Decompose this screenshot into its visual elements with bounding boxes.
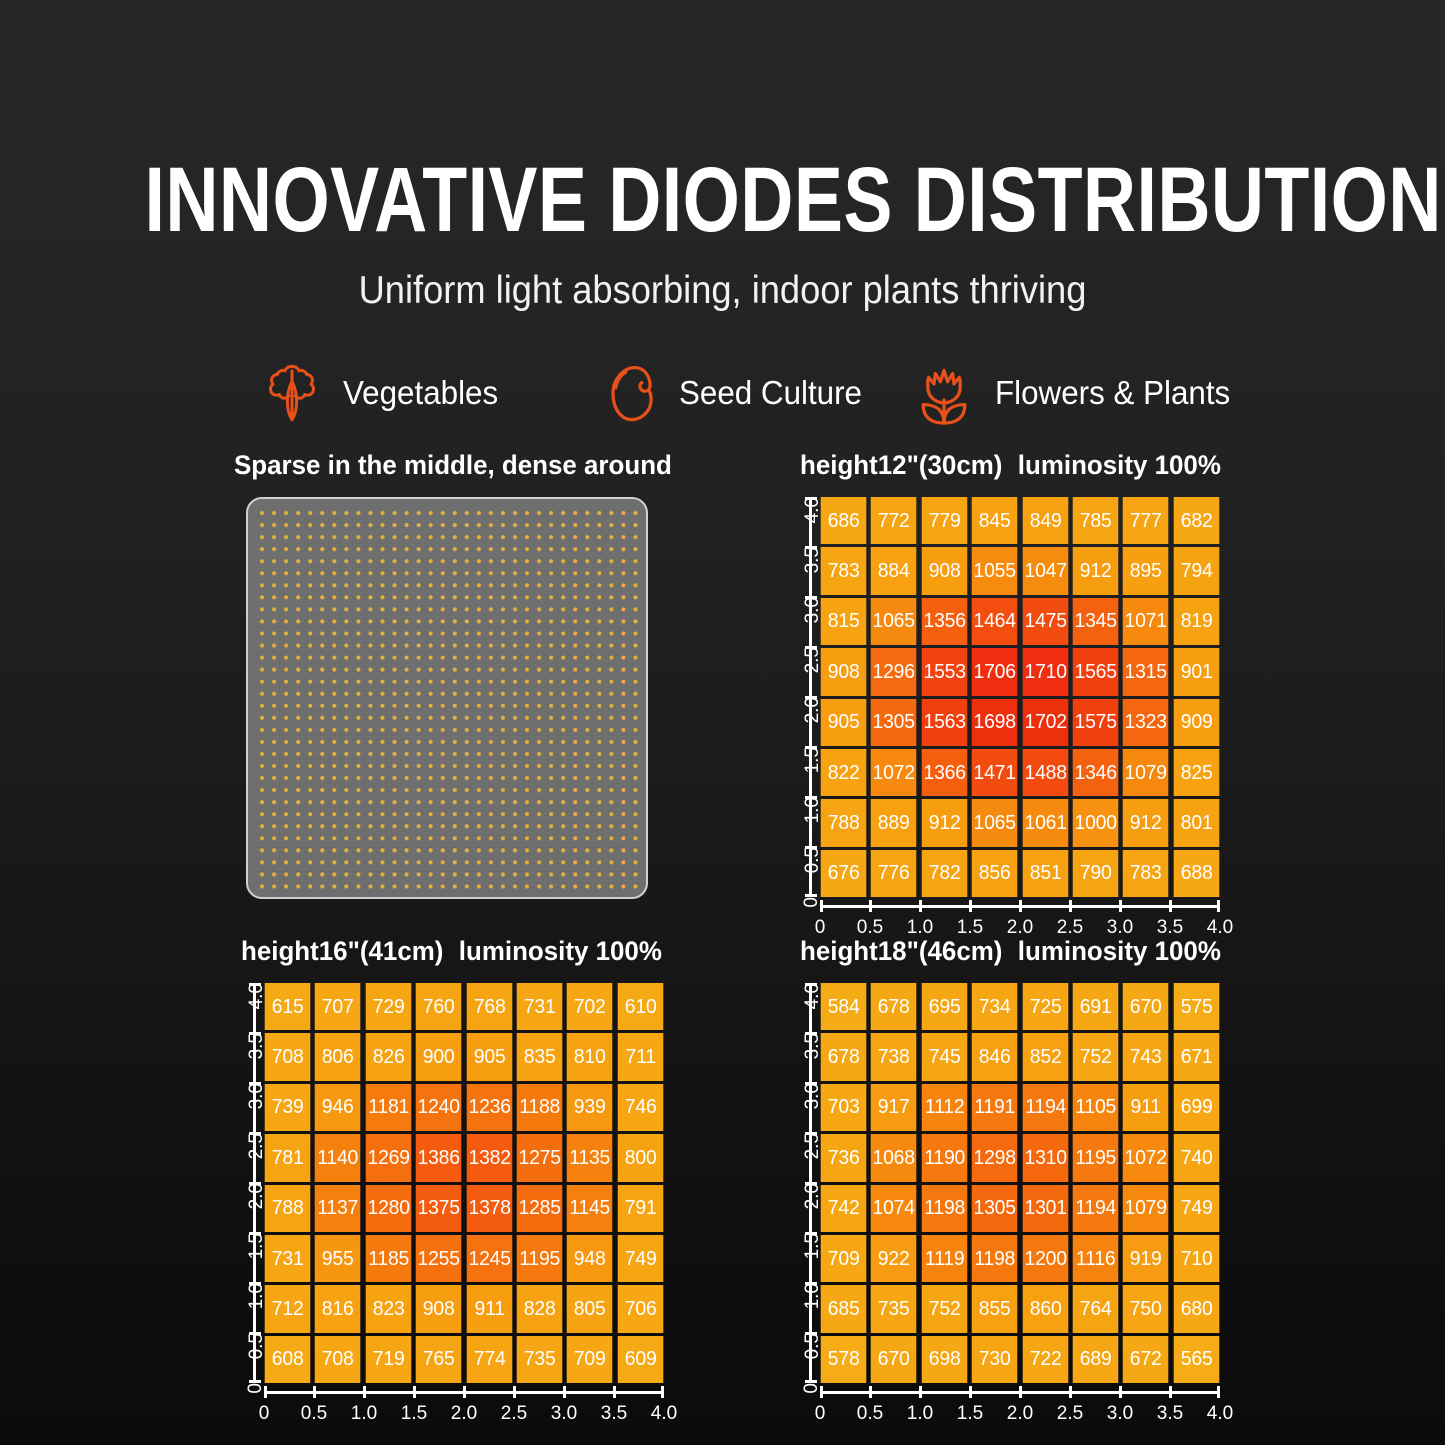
heatmap-cell: 1112 — [921, 1084, 967, 1131]
x-axis-tick — [613, 1386, 616, 1398]
heatmap-cell: 706 — [617, 1285, 663, 1332]
heatmap-cell: 1047 — [1022, 547, 1068, 594]
heatmap-cell: 615 — [265, 983, 311, 1030]
heatmap-cell: 1345 — [1073, 598, 1119, 645]
heatmap-cell: 856 — [972, 850, 1018, 897]
y-axis-tick-label: 0 — [236, 1383, 257, 1394]
x-axis-tick — [513, 1386, 516, 1398]
heatmap-cell: 1236 — [466, 1084, 512, 1131]
x-axis-tick — [363, 1386, 366, 1398]
x-axis: 00.51.01.52.02.53.03.54.0 — [820, 897, 1220, 939]
heatmap-cell: 1065 — [871, 598, 917, 645]
heatmap-cell: 1105 — [1073, 1084, 1119, 1131]
heatmap-cell: 688 — [1173, 850, 1219, 897]
x-axis-tick-label: 1.0 — [907, 917, 933, 938]
x-axis-tick-label: 1.5 — [401, 1403, 427, 1424]
y-axis-tick-label: 1.5 — [792, 1233, 813, 1259]
heatmap-cell: 729 — [365, 983, 411, 1030]
heatmap-cell: 1245 — [466, 1235, 512, 1282]
y-axis-tick-label: 2.5 — [792, 647, 813, 673]
feature-item-seed-culture: Seed Culture — [591, 350, 907, 436]
chart-title-h18-luminosity: luminosity 100% — [1018, 936, 1221, 966]
heatmap-cell: 819 — [1173, 598, 1219, 645]
heatmap-cell: 1191 — [972, 1084, 1018, 1131]
x-axis-tick-label: 1.0 — [351, 1403, 377, 1424]
heatmap-cell: 889 — [871, 799, 917, 846]
heatmap-cell: 702 — [567, 983, 613, 1030]
heatmap-cell: 1071 — [1123, 598, 1169, 645]
heatmap-cell: 776 — [871, 850, 917, 897]
y-axis-tick-label: 2.0 — [236, 1183, 257, 1209]
y-axis-tick-label: 3.0 — [792, 1083, 813, 1109]
heatmap-cell: 708 — [265, 1033, 311, 1080]
heatmap-cell: 955 — [315, 1235, 361, 1282]
heatmap-cell: 815 — [821, 598, 867, 645]
heatmap-cell: 740 — [1173, 1134, 1219, 1181]
heatmap-cell: 794 — [1173, 547, 1219, 594]
heatmap-cell: 908 — [921, 547, 967, 594]
heatmap-cell: 777 — [1123, 497, 1169, 544]
x-axis-tick — [1119, 1386, 1122, 1398]
heatmap-cell: 1323 — [1123, 699, 1169, 746]
y-axis-tick-label: 2.0 — [792, 1183, 813, 1209]
chart-title-h16: height16"(41cm)luminosity 100% — [241, 936, 662, 966]
heatmap-cell: 578 — [821, 1336, 867, 1383]
heatmap-cell: 810 — [567, 1033, 613, 1080]
heatmap-cell: 801 — [1173, 799, 1219, 846]
x-axis-tick — [1217, 900, 1220, 912]
heatmap-cell: 1488 — [1022, 749, 1068, 796]
heatmap-cell: 738 — [871, 1033, 917, 1080]
heatmap-cell: 849 — [1022, 497, 1068, 544]
heatmap-cell: 1068 — [871, 1134, 917, 1181]
page-title: INNOVATIVE DIODES DISTRIBUTION — [145, 152, 1301, 248]
y-axis-tick-label: 0.5 — [236, 1333, 257, 1359]
heatmap-cell: 768 — [466, 983, 512, 1030]
heatmap-cell: 1375 — [416, 1185, 462, 1232]
heatmap-cell: 1315 — [1123, 648, 1169, 695]
heatmap-cell: 695 — [921, 983, 967, 1030]
heatmap-cell: 905 — [466, 1033, 512, 1080]
heatmap-cell: 709 — [567, 1336, 613, 1383]
y-axis-tick-label: 2.5 — [792, 1133, 813, 1159]
heatmap-cell: 1198 — [972, 1235, 1018, 1282]
heatmap-cell: 1305 — [972, 1185, 1018, 1232]
heatmap-cell: 1305 — [871, 699, 917, 746]
y-axis: 4.03.53.02.52.01.51.00.50 — [778, 497, 820, 897]
heatmap-cell: 1710 — [1022, 648, 1068, 695]
heatmap-cell: 749 — [1173, 1185, 1219, 1232]
x-axis-tick — [1119, 900, 1122, 912]
x-axis-tick — [1019, 900, 1022, 912]
heatmap-cell: 782 — [921, 850, 967, 897]
heatmap-cell: 1194 — [1022, 1084, 1068, 1131]
x-axis-tick — [969, 900, 972, 912]
y-axis-tick-label: 1.0 — [792, 1283, 813, 1309]
heatmap-cell: 1061 — [1022, 799, 1068, 846]
heatmap-cell: 680 — [1173, 1285, 1219, 1332]
flower-icon — [907, 356, 981, 430]
heatmap-cell: 707 — [315, 983, 361, 1030]
x-axis-tick-label: 0 — [815, 917, 826, 938]
x-axis-tick-label: 4.0 — [651, 1403, 677, 1424]
heatmap-cell: 750 — [1123, 1285, 1169, 1332]
heatmap-cell: 709 — [821, 1235, 867, 1282]
heatmap-cell: 912 — [921, 799, 967, 846]
x-axis: 00.51.01.52.02.53.03.54.0 — [820, 1383, 1220, 1425]
heatmap-cell: 781 — [265, 1134, 311, 1181]
chart-title-h18-height: height18"(46cm) — [800, 936, 1002, 966]
heatmap-cell: 670 — [1123, 983, 1169, 1030]
heatmap-cell: 912 — [1123, 799, 1169, 846]
heatmap-cell: 608 — [265, 1336, 311, 1383]
x-axis-tick-label: 2.0 — [451, 1403, 477, 1424]
heatmap-cell: 1190 — [921, 1134, 967, 1181]
feature-label-flowers-plants: Flowers & Plants — [995, 375, 1230, 411]
heatmap-cell: 1366 — [921, 749, 967, 796]
x-axis-tick — [463, 1386, 466, 1398]
led-diode-panel — [246, 497, 648, 899]
heatmap-cell: 783 — [821, 547, 867, 594]
x-axis-tick — [1169, 1386, 1172, 1398]
heatmap-cell: 752 — [1073, 1033, 1119, 1080]
heatmap-cell: 946 — [315, 1084, 361, 1131]
x-axis-tick — [1019, 1386, 1022, 1398]
x-axis: 00.51.01.52.02.53.03.54.0 — [264, 1383, 664, 1425]
heatmap-cell: 725 — [1022, 983, 1068, 1030]
x-axis-tick-label: 3.5 — [1157, 1403, 1183, 1424]
heatmap-cell: 1074 — [871, 1185, 917, 1232]
heatmap-cell: 828 — [517, 1285, 563, 1332]
heatmap-cell: 731 — [517, 983, 563, 1030]
y-axis-tick-label: 4.0 — [236, 983, 257, 1009]
heatmap-cell: 884 — [871, 547, 917, 594]
heatmap-cell: 905 — [821, 699, 867, 746]
heatmap-cell: 1137 — [315, 1185, 361, 1232]
heatmap-cell: 722 — [1022, 1336, 1068, 1383]
feature-item-flowers-plants: Flowers & Plants — [907, 350, 1235, 436]
heatmap-cell: 1378 — [466, 1185, 512, 1232]
heatmap-cell: 698 — [921, 1336, 967, 1383]
heatmap-cell: 1356 — [921, 598, 967, 645]
heatmap-cell: 823 — [365, 1285, 411, 1332]
x-axis-tick-label: 0.5 — [857, 1403, 883, 1424]
heatmap-cell: 760 — [416, 983, 462, 1030]
heatmap-cell: 939 — [567, 1084, 613, 1131]
heatmap-cell: 1072 — [871, 749, 917, 796]
feature-item-vegetables: Vegetables — [255, 350, 591, 436]
heatmap-cell: 735 — [871, 1285, 917, 1332]
x-axis-tick-label: 0 — [815, 1403, 826, 1424]
heatmap-cell: 1145 — [567, 1185, 613, 1232]
heatmap-cell: 816 — [315, 1285, 361, 1332]
heatmap-cell: 790 — [1073, 850, 1119, 897]
heatmap-cell: 900 — [416, 1033, 462, 1080]
heatmap-cell: 1269 — [365, 1134, 411, 1181]
heatmap-cell: 852 — [1022, 1033, 1068, 1080]
x-axis-tick — [1069, 1386, 1072, 1398]
heatmap-cell: 1194 — [1073, 1185, 1119, 1232]
chart-title-h18: height18"(46cm)luminosity 100% — [800, 936, 1221, 966]
heatmap-cell: 779 — [921, 497, 967, 544]
heatmap-cell: 764 — [1073, 1285, 1119, 1332]
heatmap-cell: 846 — [972, 1033, 1018, 1080]
heatmap-cell: 1706 — [972, 648, 1018, 695]
heatmap-cell: 745 — [921, 1033, 967, 1080]
heatmap-cell: 948 — [567, 1235, 613, 1282]
y-axis-tick-label: 2.0 — [792, 697, 813, 723]
heatmap-cell: 1065 — [972, 799, 1018, 846]
heatmap-cell: 1119 — [921, 1235, 967, 1282]
x-axis-tick-label: 2.5 — [1057, 917, 1083, 938]
heatmap-cell: 730 — [972, 1336, 1018, 1383]
heatmap-cell: 1079 — [1123, 749, 1169, 796]
heatmap-cell: 1563 — [921, 699, 967, 746]
x-axis-tick — [1217, 1386, 1220, 1398]
y-axis-tick-label: 3.5 — [792, 1033, 813, 1059]
heatmap-cell: 678 — [871, 983, 917, 1030]
heatmap-cell: 788 — [821, 799, 867, 846]
heatmap-cell: 584 — [821, 983, 867, 1030]
heatmap-cell: 851 — [1022, 850, 1068, 897]
x-axis-tick-label: 0.5 — [857, 917, 883, 938]
heatmap-cell: 911 — [1123, 1084, 1169, 1131]
y-axis-tick-label: 4.0 — [792, 983, 813, 1009]
x-axis-tick — [969, 1386, 972, 1398]
heatmap-cell: 901 — [1173, 648, 1219, 695]
x-axis-tick-label: 1.5 — [957, 1403, 983, 1424]
x-axis-tick-label: 1.0 — [907, 1403, 933, 1424]
x-axis-tick — [313, 1386, 316, 1398]
heatmap-cell: 909 — [1173, 699, 1219, 746]
x-axis-tick-label: 0.5 — [301, 1403, 327, 1424]
y-axis-tick-label: 2.5 — [236, 1133, 257, 1159]
feature-row: Vegetables Seed Culture F — [255, 350, 1235, 436]
feature-label-seed-culture: Seed Culture — [679, 375, 862, 411]
heatmap-cell: 1079 — [1123, 1185, 1169, 1232]
heatmap-cell: 1296 — [871, 648, 917, 695]
heatmap-chart-h16: 6157077297607687317026107088068269009058… — [264, 983, 664, 1383]
y-axis-tick-label: 3.5 — [792, 547, 813, 573]
heatmap-cell: 908 — [821, 648, 867, 695]
heatmap-cell: 1188 — [517, 1084, 563, 1131]
heatmap-cell: 835 — [517, 1033, 563, 1080]
heatmap-cell: 1198 — [921, 1185, 967, 1232]
heatmap-cell: 1702 — [1022, 699, 1068, 746]
heatmap-cell: 731 — [265, 1235, 311, 1282]
x-axis-tick-label: 3.0 — [1107, 1403, 1133, 1424]
heatmap-chart-h18: 5846786957347256916705756787387458468527… — [820, 983, 1220, 1383]
heatmap-cell: 1072 — [1123, 1134, 1169, 1181]
heatmap-cell: 822 — [821, 749, 867, 796]
heatmap-cell: 860 — [1022, 1285, 1068, 1332]
y-axis-tick-label: 4.0 — [792, 497, 813, 523]
heatmap-cell: 685 — [821, 1285, 867, 1332]
x-axis-tick — [413, 1386, 416, 1398]
heatmap-cell: 671 — [1173, 1033, 1219, 1080]
heatmap-cell: 1464 — [972, 598, 1018, 645]
y-axis-tick-label: 3.0 — [236, 1083, 257, 1109]
heatmap-cell: 1181 — [365, 1084, 411, 1131]
x-axis-tick-label: 4.0 — [1207, 917, 1233, 938]
seed-icon — [591, 356, 665, 430]
heatmap-cell: 855 — [972, 1285, 1018, 1332]
x-axis-tick-label: 0 — [259, 1403, 270, 1424]
y-axis: 4.03.53.02.52.01.51.00.50 — [778, 983, 820, 1383]
heatmap-cell: 806 — [315, 1033, 361, 1080]
heatmap-cell: 565 — [1173, 1336, 1219, 1383]
y-axis-tick-label: 0.5 — [792, 847, 813, 873]
heatmap-cell: 735 — [517, 1336, 563, 1383]
heatmap-grid: 6867727798458497857776827838849081055104… — [820, 497, 1220, 897]
heatmap-cell: 1255 — [416, 1235, 462, 1282]
y-axis-tick-label: 1.5 — [792, 747, 813, 773]
chart-title-h12-luminosity: luminosity 100% — [1018, 450, 1221, 480]
heatmap-cell: 676 — [821, 850, 867, 897]
heatmap-cell: 609 — [617, 1336, 663, 1383]
heatmap-cell: 691 — [1073, 983, 1119, 1030]
y-axis-tick-label: 1.0 — [236, 1283, 257, 1309]
y-axis-tick-label: 0 — [792, 897, 813, 908]
y-axis-tick-label: 0 — [792, 1383, 813, 1394]
heatmap-cell: 1185 — [365, 1235, 411, 1282]
x-axis-tick — [1169, 900, 1172, 912]
heatmap-grid: 6157077297607687317026107088068269009058… — [264, 983, 664, 1383]
heatmap-cell: 1200 — [1022, 1235, 1068, 1282]
heatmap-cell: 749 — [617, 1235, 663, 1282]
heatmap-cell: 1346 — [1073, 749, 1119, 796]
x-axis-tick — [919, 900, 922, 912]
y-axis-tick-label: 3.5 — [236, 1033, 257, 1059]
heatmap-cell: 734 — [972, 983, 1018, 1030]
heatmap-cell: 1698 — [972, 699, 1018, 746]
heatmap-cell: 703 — [821, 1084, 867, 1131]
heatmap-cell: 785 — [1073, 497, 1119, 544]
heatmap-cell: 1475 — [1022, 598, 1068, 645]
x-axis-tick-label: 3.0 — [551, 1403, 577, 1424]
heatmap-cell: 1386 — [416, 1134, 462, 1181]
heatmap-cell: 711 — [617, 1033, 663, 1080]
x-axis-tick-label: 2.5 — [1057, 1403, 1083, 1424]
heatmap-cell: 736 — [821, 1134, 867, 1181]
heatmap-cell: 672 — [1123, 1336, 1169, 1383]
heatmap-cell: 689 — [1073, 1336, 1119, 1383]
heatmap-cell: 610 — [617, 983, 663, 1030]
x-axis-tick — [563, 1386, 566, 1398]
heatmap-cell: 1565 — [1073, 648, 1119, 695]
heatmap-cell: 919 — [1123, 1235, 1169, 1282]
x-axis-tick-label: 3.0 — [1107, 917, 1133, 938]
heatmap-cell: 575 — [1173, 983, 1219, 1030]
heatmap-cell: 742 — [821, 1185, 867, 1232]
heatmap-cell: 788 — [265, 1185, 311, 1232]
heatmap-cell: 1553 — [921, 648, 967, 695]
heatmap-cell: 1471 — [972, 749, 1018, 796]
heatmap-cell: 922 — [871, 1235, 917, 1282]
heatmap-cell: 917 — [871, 1084, 917, 1131]
heatmap-cell: 739 — [265, 1084, 311, 1131]
heatmap-cell: 682 — [1173, 497, 1219, 544]
heatmap-cell: 1301 — [1022, 1185, 1068, 1232]
heatmap-cell: 1310 — [1022, 1134, 1068, 1181]
heatmap-cell: 746 — [617, 1084, 663, 1131]
heatmap-cell: 1285 — [517, 1185, 563, 1232]
y-axis: 4.03.53.02.52.01.51.00.50 — [222, 983, 264, 1383]
heatmap-cell: 783 — [1123, 850, 1169, 897]
heatmap-cell: 1000 — [1073, 799, 1119, 846]
heatmap-cell: 699 — [1173, 1084, 1219, 1131]
led-panel-title: Sparse in the middle, dense around — [234, 450, 672, 480]
heatmap-cell: 708 — [315, 1336, 361, 1383]
heatmap-grid: 5846786957347256916705756787387458468527… — [820, 983, 1220, 1383]
heatmap-cell: 686 — [821, 497, 867, 544]
heatmap-cell: 895 — [1123, 547, 1169, 594]
heatmap-cell: 765 — [416, 1336, 462, 1383]
heatmap-cell: 1298 — [972, 1134, 1018, 1181]
x-axis-tick — [661, 1386, 664, 1398]
x-axis-tick — [869, 1386, 872, 1398]
heatmap-cell: 912 — [1073, 547, 1119, 594]
x-axis-tick-label: 2.0 — [1007, 1403, 1033, 1424]
heatmap-cell: 1140 — [315, 1134, 361, 1181]
x-axis-tick-label: 1.5 — [957, 917, 983, 938]
heatmap-cell: 911 — [466, 1285, 512, 1332]
y-axis-tick-label: 1.0 — [792, 797, 813, 823]
x-axis-tick — [1069, 900, 1072, 912]
x-axis-tick-label: 2.0 — [1007, 917, 1033, 938]
heatmap-cell: 1240 — [416, 1084, 462, 1131]
y-axis-tick-label: 1.5 — [236, 1233, 257, 1259]
infographic-page: INNOVATIVE DIODES DISTRIBUTION Uniform l… — [0, 0, 1445, 1445]
heatmap-cell: 791 — [617, 1185, 663, 1232]
led-diode-grid — [256, 507, 638, 889]
heatmap-cell: 774 — [466, 1336, 512, 1383]
heatmap-cell: 1275 — [517, 1134, 563, 1181]
heatmap-cell: 845 — [972, 497, 1018, 544]
heatmap-cell: 825 — [1173, 749, 1219, 796]
heatmap-cell: 805 — [567, 1285, 613, 1332]
heatmap-cell: 1055 — [972, 547, 1018, 594]
vegetable-icon — [255, 356, 329, 430]
heatmap-cell: 712 — [265, 1285, 311, 1332]
y-axis-tick-label: 0.5 — [792, 1333, 813, 1359]
chart-title-h16-height: height16"(41cm) — [241, 936, 443, 966]
heatmap-chart-h12: 6867727798458497857776827838849081055104… — [820, 497, 1220, 897]
page-subtitle: Uniform light absorbing, indoor plants t… — [51, 266, 1395, 316]
x-axis-tick-label: 3.5 — [601, 1403, 627, 1424]
heatmap-cell: 1135 — [567, 1134, 613, 1181]
x-axis-tick-label: 2.5 — [501, 1403, 527, 1424]
heatmap-cell: 1280 — [365, 1185, 411, 1232]
chart-title-h12-height: height12"(30cm) — [800, 450, 1002, 480]
heatmap-cell: 752 — [921, 1285, 967, 1332]
x-axis-tick — [919, 1386, 922, 1398]
heatmap-cell: 772 — [871, 497, 917, 544]
heatmap-cell: 1195 — [1073, 1134, 1119, 1181]
heatmap-cell: 1382 — [466, 1134, 512, 1181]
heatmap-cell: 826 — [365, 1033, 411, 1080]
heatmap-cell: 908 — [416, 1285, 462, 1332]
heatmap-cell: 1575 — [1073, 699, 1119, 746]
heatmap-cell: 710 — [1173, 1235, 1219, 1282]
heatmap-cell: 800 — [617, 1134, 663, 1181]
heatmap-cell: 678 — [821, 1033, 867, 1080]
heatmap-cell: 743 — [1123, 1033, 1169, 1080]
heatmap-cell: 670 — [871, 1336, 917, 1383]
feature-label-vegetables: Vegetables — [343, 375, 498, 411]
x-axis-tick-label: 4.0 — [1207, 1403, 1233, 1424]
heatmap-cell: 1116 — [1073, 1235, 1119, 1282]
